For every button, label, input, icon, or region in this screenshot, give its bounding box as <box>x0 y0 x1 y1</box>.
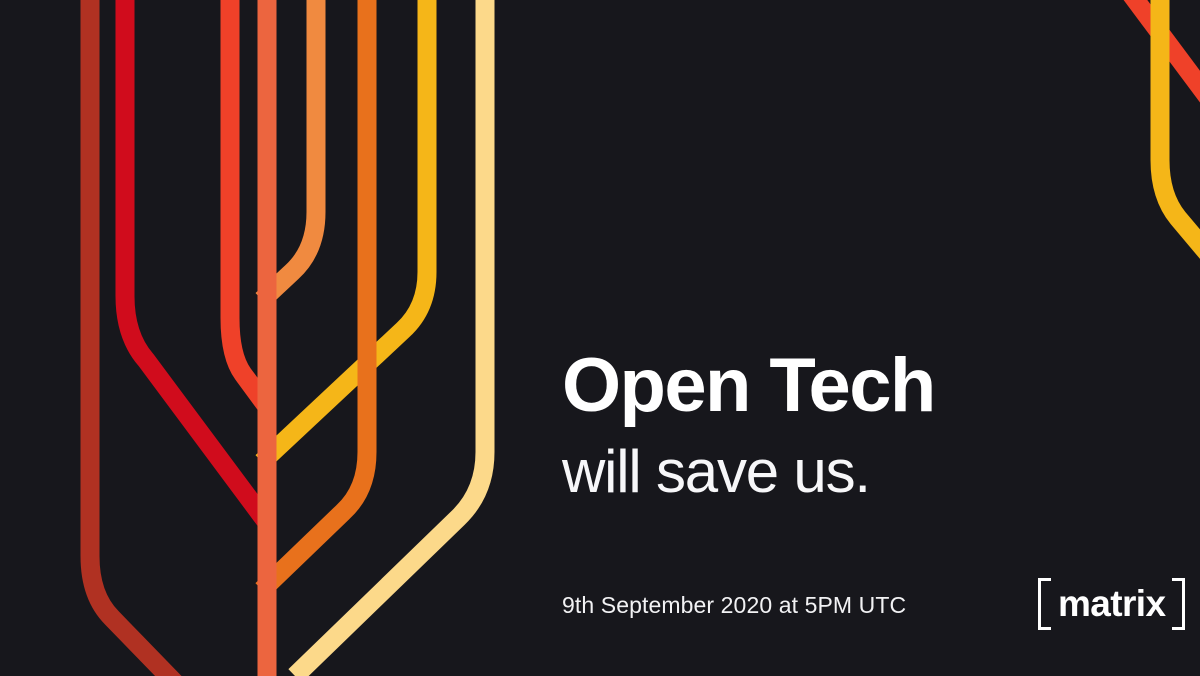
headline-block: Open Tech will save us. <box>562 348 1162 502</box>
gold-line <box>262 0 427 462</box>
gold-corner-line <box>1160 0 1200 262</box>
matrix-logo: matrix <box>1038 578 1185 630</box>
page-title: Open Tech <box>562 348 1162 424</box>
page-subtitle: will save us. <box>562 442 1162 502</box>
crimson-line <box>125 0 268 524</box>
bracket-left-icon <box>1038 578 1051 630</box>
matrix-tree-lines-artwork <box>0 0 1200 676</box>
matrix-wordmark: matrix <box>1051 578 1172 630</box>
poster-canvas: Open Tech will save us. 9th September 20… <box>0 0 1200 676</box>
event-date-text: 9th September 2020 at 5PM UTC <box>562 592 906 619</box>
bracket-right-icon <box>1172 578 1185 630</box>
